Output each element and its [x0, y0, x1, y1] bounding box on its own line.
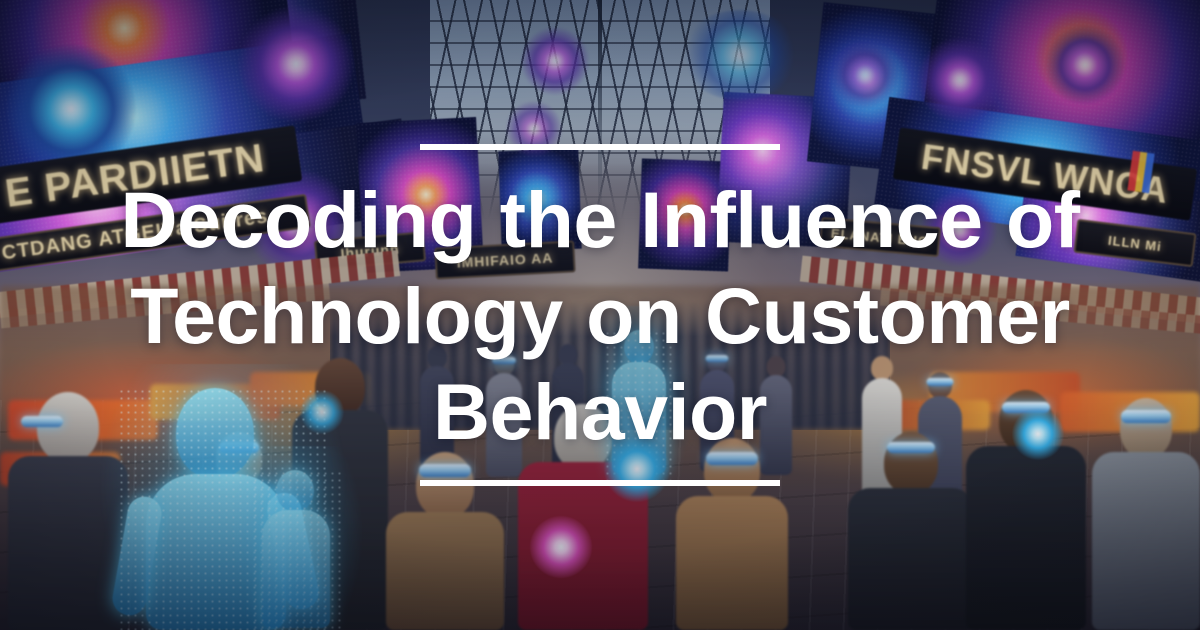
page-title: Decoding the Influence of Technology on …	[120, 172, 1080, 460]
divider-bottom	[420, 480, 780, 486]
divider-top	[420, 144, 780, 150]
hero-banner: E PARDIIETN CTDANG ATGEIVa Suitres Ihuru…	[0, 0, 1200, 630]
title-overlay: Decoding the Influence of Technology on …	[0, 0, 1200, 630]
